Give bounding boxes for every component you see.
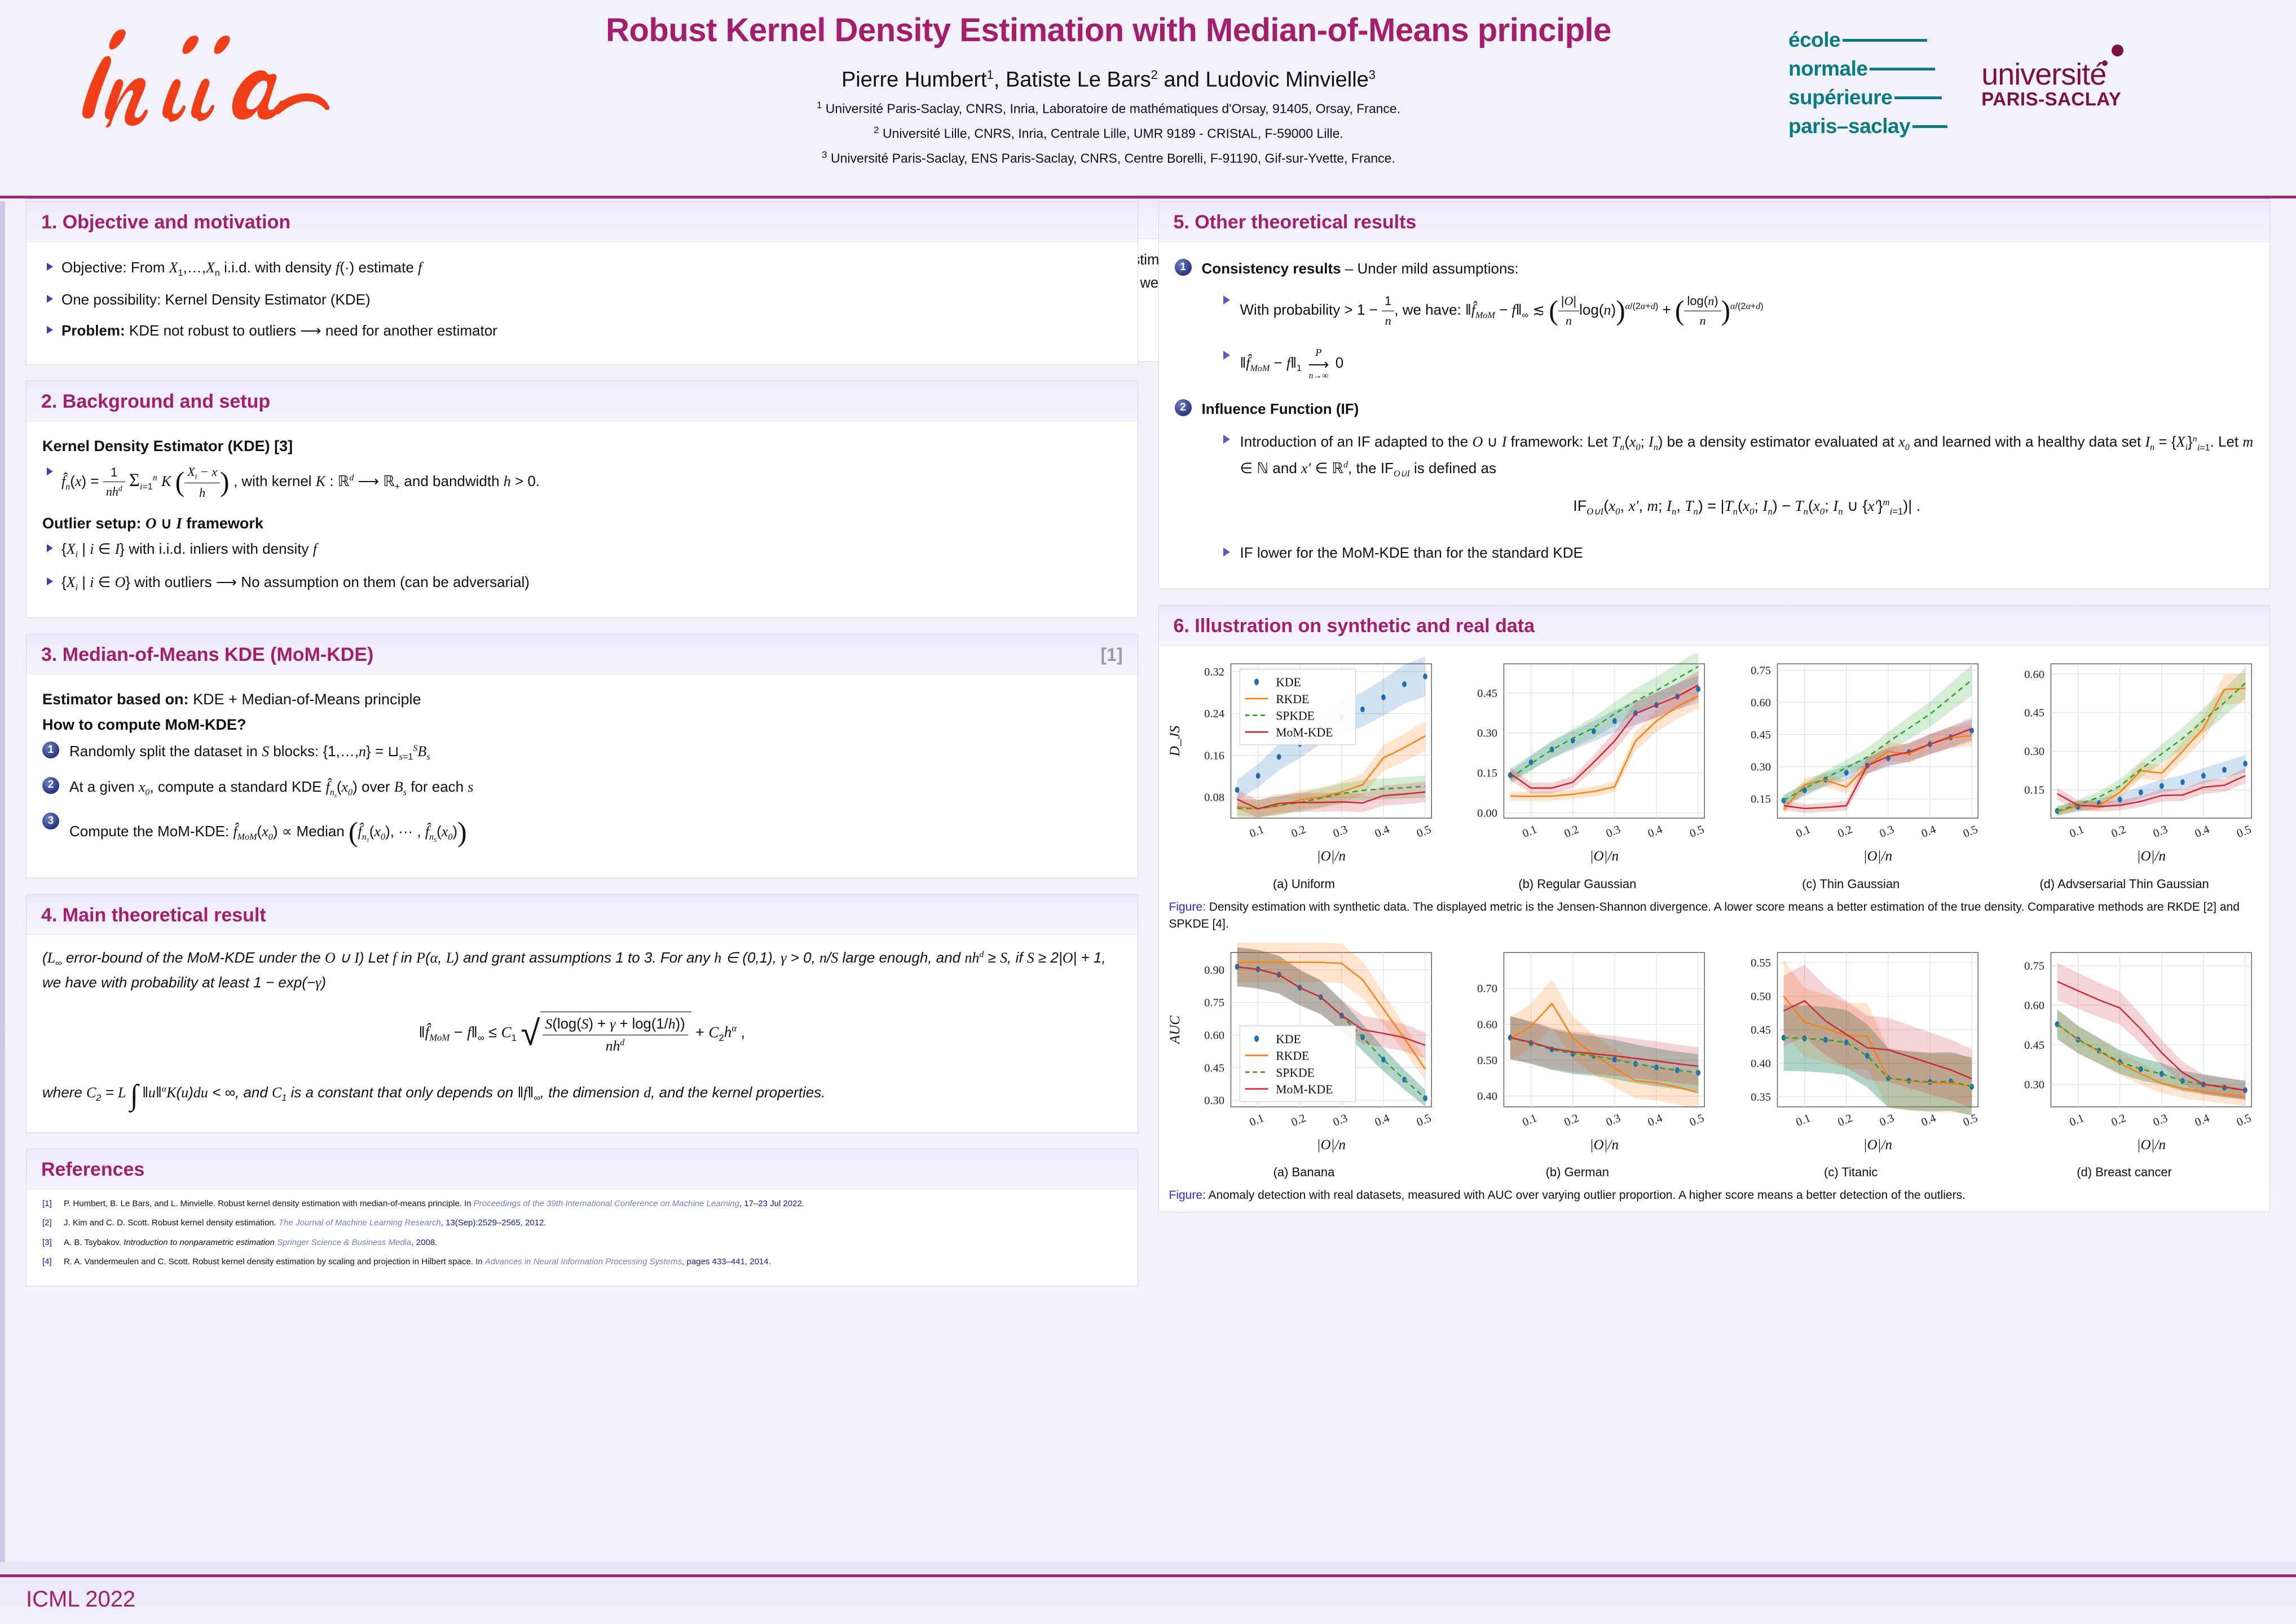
affiliation-2-text: Université Lille, CNRS, Inria, Centrale … <box>883 126 1343 141</box>
figure-1-label: Figure: <box>1169 901 1206 913</box>
plot-canvas: 0.10.20.30.40.50.150.300.450.600.75|O|/n <box>1716 654 1986 872</box>
list-item: Compute the MoM-KDE: f̂MoM(x0) ∝ Median … <box>42 811 1122 853</box>
figure-1-caption: Figure: Density estimation with syntheti… <box>1169 899 2260 933</box>
svg-text:0.1: 0.1 <box>1521 823 1539 840</box>
chart-svg: 0.10.20.30.40.50.400.500.600.70|O|/n <box>1442 942 1712 1154</box>
section-4-header: 4. Main theoretical result <box>27 895 1138 935</box>
kde-formula: f̂n(x) = 1nhd Σi=1n K (Xi − xh) , with k… <box>42 461 1122 503</box>
svg-text:0.2: 0.2 <box>1563 823 1581 840</box>
svg-text:0.30: 0.30 <box>2024 1078 2044 1091</box>
figure-2-caption: Figure: Anomaly detection with real data… <box>1169 1187 2260 1204</box>
reference-rest: , 2008. <box>411 1238 437 1247</box>
reference-title: Robust kernel density estimation with me… <box>218 1199 462 1208</box>
svg-text:0.30: 0.30 <box>1478 727 1498 740</box>
title-block: Robust Kernel Density Estimation with Me… <box>429 0 1788 166</box>
svg-text:0.5: 0.5 <box>1414 1111 1433 1128</box>
left-column: 1. Objective and motivation Objective: F… <box>26 201 1138 1302</box>
list-item: {Xi | i ∈ I} with i.i.d. inliers with de… <box>42 538 1122 562</box>
svg-text:0.00: 0.00 <box>1478 807 1498 820</box>
svg-text:AUC: AUC <box>1169 1015 1183 1044</box>
subcaption: (b) German <box>1442 1163 1712 1181</box>
ens-rule-3 <box>1894 96 1942 99</box>
chart-svg: 0.10.20.30.40.50.000.150.300.45|O|/n <box>1442 654 1712 866</box>
svg-text:0.15: 0.15 <box>1751 793 1771 806</box>
svg-text:0.24: 0.24 <box>1204 708 1224 721</box>
figure-2-caption-text: Anomaly detection with real datasets, me… <box>1209 1189 1966 1202</box>
svg-text:|O|/n: |O|/n <box>1316 849 1345 864</box>
references-title: References <box>41 1159 144 1181</box>
section-2-title: 2. Background and setup <box>41 391 270 413</box>
poster-header: Robust Kernel Density Estimation with Me… <box>0 0 2296 198</box>
reference-authors: A. B. Tsybakov. <box>64 1238 121 1247</box>
conference-name: ICML 2022 <box>26 1587 135 1612</box>
svg-text:0.70: 0.70 <box>1478 982 1498 995</box>
svg-text:D_JS: D_JS <box>1169 726 1183 757</box>
svg-text:0.75: 0.75 <box>1204 996 1224 1009</box>
references-body: [1] P. Humbert, B. Le Bars, and L. Minvi… <box>27 1189 1138 1286</box>
section-5-header: 5. Other theoretical results <box>1159 202 2270 242</box>
svg-text:0.2: 0.2 <box>2110 823 2128 840</box>
page-title: Robust Kernel Density Estimation with Me… <box>429 12 1788 48</box>
subcaption: (c) Thin Gaussian <box>1716 875 1986 893</box>
section-1-body: Objective: From X1,…,Xn i.i.d. with dens… <box>27 242 1138 364</box>
author-list: Pierre Humbert1, Batiste Le Bars2 and Lu… <box>429 68 1788 92</box>
svg-text:RKDE: RKDE <box>1276 1049 1309 1062</box>
reference-journal: The Journal of Machine Learning Research <box>279 1218 441 1228</box>
subcaption: (b) Regular Gaussian <box>1442 875 1712 893</box>
svg-text:0.45: 0.45 <box>2024 707 2044 720</box>
chart-svg: 0.10.20.30.40.50.300.450.600.750.90|O|/n… <box>1169 942 1439 1154</box>
list-item: ‖f̂MoM − f‖1 P ⟶ n→∞ 0 <box>1219 345 2254 382</box>
ens-rule-4 <box>1912 125 1947 128</box>
plot-canvas: 0.10.20.30.40.50.000.150.300.45|O|/n <box>1442 654 1712 872</box>
section-5-items: Consistency results – Under mild assumpt… <box>1175 258 2254 564</box>
svg-text:0.08: 0.08 <box>1204 792 1224 804</box>
reference-tag: [4] <box>42 1256 57 1268</box>
plot-breast-cancer: 0.10.20.30.40.50.300.450.600.75|O|/n(d) … <box>1989 942 2259 1181</box>
svg-text:0.16: 0.16 <box>1204 750 1224 762</box>
ens-line-3: supérieure <box>1788 86 1947 109</box>
plot-adversarial-thin-gaussian: 0.10.20.30.40.50.150.300.450.60|O|/n(d) … <box>1989 654 2259 893</box>
svg-text:0.45: 0.45 <box>1751 729 1771 742</box>
reference-rest: , 13(Sep):2529–2565, 2012. <box>441 1218 547 1228</box>
svg-text:0.45: 0.45 <box>2024 1039 2044 1051</box>
header-divider <box>0 196 2296 198</box>
if-equation: IFO∪I(x0, x′, m; In, Tn) = |Tn(x0; In) −… <box>1240 493 2254 520</box>
svg-text:|O|/n: |O|/n <box>2137 849 2166 864</box>
reference-item: [1] P. Humbert, B. Le Bars, and L. Minvi… <box>42 1198 1122 1210</box>
ens-line-4: paris–saclay <box>1788 114 1947 138</box>
estimator-text: KDE + Median-of-Means principle <box>193 691 421 708</box>
plot-regular-gaussian: 0.10.20.30.40.50.000.150.300.45|O|/n(b) … <box>1442 654 1712 893</box>
poster-footer: ICML 2022 <box>0 1562 2296 1624</box>
svg-text:0.40: 0.40 <box>1478 1090 1498 1102</box>
references-header: References <box>27 1149 1138 1189</box>
svg-text:0.55: 0.55 <box>1751 956 1771 969</box>
svg-text:0.4: 0.4 <box>1920 823 1938 840</box>
svg-text:0.45: 0.45 <box>1204 1062 1224 1074</box>
theorem-equation: ‖f̂MoM − f‖∞ ≤ C1 √ S(log(S) + γ + log(1… <box>42 1007 1122 1060</box>
subcaption: (a) Uniform <box>1169 875 1439 893</box>
svg-text:0.4: 0.4 <box>1920 1111 1938 1128</box>
svg-text:0.5: 0.5 <box>1688 823 1706 840</box>
list-item: {Xi | i ∈ O} with outliers ⟶ No assumpti… <box>42 571 1122 595</box>
reference-tag: [3] <box>42 1237 57 1248</box>
plot-canvas: 0.10.20.30.40.50.300.450.600.750.90|O|/n… <box>1169 942 1439 1160</box>
list-item: Consistency results – Under mild assumpt… <box>1175 258 2254 382</box>
svg-text:0.4: 0.4 <box>1373 1111 1391 1128</box>
outlier-setup-heading: Outlier setup: O ∪ I framework <box>42 512 1122 535</box>
svg-text:0.5: 0.5 <box>2235 823 2253 840</box>
svg-text:0.2: 0.2 <box>1289 823 1307 840</box>
svg-text:0.4: 0.4 <box>2193 1111 2211 1128</box>
problem-label: Problem: <box>61 322 125 339</box>
subcaption: (c) Titanic <box>1716 1163 1986 1181</box>
affiliation-1: 1 Université Paris-Saclay, CNRS, Inria, … <box>429 100 1788 117</box>
reference-title: Robust kernel density estimation. <box>152 1218 276 1228</box>
section-references: References [1] P. Humbert, B. Le Bars, a… <box>26 1149 1138 1286</box>
reference-tag: [2] <box>42 1217 57 1229</box>
reference-journal: Advances in Neural Information Processin… <box>485 1257 682 1266</box>
footer-divider <box>0 1574 2296 1577</box>
influence-function-label: Influence Function (IF) <box>1202 400 1359 417</box>
reference-item: [4] R. A. Vandermeulen and C. Scott. Rob… <box>42 1256 1122 1268</box>
svg-text:|O|/n: |O|/n <box>1590 849 1619 864</box>
how-to-compute-heading: How to compute MoM-KDE? <box>42 713 1122 736</box>
kde-heading: Kernel Density Estimator (KDE) [3] <box>42 435 1122 458</box>
svg-text:0.3: 0.3 <box>2152 823 2170 840</box>
ups-wordmark: université <box>1981 57 2121 92</box>
section-6-body: 0.10.20.30.40.50.080.160.240.32|O|/nD_JS… <box>1159 646 2270 1212</box>
section-objective: 1. Objective and motivation Objective: F… <box>26 201 1138 365</box>
svg-text:0.35: 0.35 <box>1751 1091 1771 1103</box>
svg-text:|O|/n: |O|/n <box>1863 849 1892 864</box>
ens-paris-saclay-logo: école normale supérieure paris–saclay <box>1788 28 1947 138</box>
plot-canvas: 0.10.20.30.40.50.080.160.240.32|O|/nD_JS… <box>1169 654 1439 872</box>
affiliation-2: 2 Université Lille, CNRS, Inria, Central… <box>429 125 1788 142</box>
svg-text:0.75: 0.75 <box>2024 960 2044 972</box>
figure-row-1: 0.10.20.30.40.50.080.160.240.32|O|/nD_JS… <box>1169 654 2260 893</box>
svg-text:0.90: 0.90 <box>1204 964 1224 976</box>
section-mom-kde: 3. Median-of-Means KDE (MoM-KDE) [1] Est… <box>26 634 1138 879</box>
plot-canvas: 0.10.20.30.40.50.150.300.450.60|O|/n <box>1989 654 2259 872</box>
svg-text:0.3: 0.3 <box>1605 823 1623 840</box>
svg-text:0.3: 0.3 <box>1878 823 1896 840</box>
svg-text:0.40: 0.40 <box>1751 1057 1771 1070</box>
section-1-header: 1. Objective and motivation <box>27 202 1138 242</box>
section-3-body: Estimator based on: KDE + Median-of-Mean… <box>27 674 1138 878</box>
consistency-rest: – Under mild assumptions: <box>1345 260 1519 277</box>
section-3-header: 3. Median-of-Means KDE (MoM-KDE) [1] <box>27 634 1138 674</box>
author-1: Pierre Humbert <box>841 68 987 91</box>
svg-text:0.15: 0.15 <box>1478 767 1498 780</box>
svg-text:KDE: KDE <box>1276 676 1301 690</box>
svg-text:RKDE: RKDE <box>1276 692 1309 706</box>
svg-text:MoM-KDE: MoM-KDE <box>1276 726 1333 739</box>
svg-text:0.1: 0.1 <box>1248 1111 1266 1128</box>
svg-text:0.15: 0.15 <box>2024 784 2044 797</box>
svg-text:|O|/n: |O|/n <box>1863 1137 1892 1153</box>
author-3: Ludovic Minvielle <box>1205 68 1368 91</box>
list-item: IF lower for the MoM-KDE than for the st… <box>1219 542 2254 564</box>
two-column-layout: 1. Objective and motivation Objective: F… <box>26 201 2270 1302</box>
svg-text:|O|/n: |O|/n <box>1316 1137 1345 1153</box>
section-6-header: 6. Illustration on synthetic and real da… <box>1159 606 2270 646</box>
svg-text:0.3: 0.3 <box>1331 1111 1349 1128</box>
ens-rule-1 <box>1843 39 1927 42</box>
svg-text:0.2: 0.2 <box>1836 1111 1854 1128</box>
svg-text:MoM-KDE: MoM-KDE <box>1276 1082 1333 1096</box>
svg-text:0.4: 0.4 <box>1646 823 1664 840</box>
author-2: Batiste Le Bars <box>1006 68 1151 91</box>
reference-authors: P. Humbert, B. Le Bars, and L. Minvielle… <box>64 1199 215 1208</box>
partner-logos: école normale supérieure paris–saclay un… <box>1788 0 2296 138</box>
theorem-statement-2: where C2 = L ∫ ‖u‖αK(u)du < ∞, and C1 is… <box>42 1072 1122 1119</box>
svg-text:0.3: 0.3 <box>2152 1111 2170 1128</box>
if-sublist: Introduction of an IF adapted to the O ∪… <box>1219 429 2254 564</box>
ens-rule-2 <box>1870 68 1935 70</box>
list-item: Randomly split the dataset in S blocks: … <box>42 740 1122 764</box>
subcaption: (d) Advsersarial Thin Gaussian <box>1989 875 2259 893</box>
ens-line-1: école <box>1788 28 1947 52</box>
svg-text:0.5: 0.5 <box>1414 823 1433 840</box>
svg-text:0.1: 0.1 <box>1795 1111 1813 1128</box>
reference-rest: , pages 433–441, 2014. <box>682 1257 771 1266</box>
svg-text:0.4: 0.4 <box>1373 823 1391 840</box>
svg-text:0.30: 0.30 <box>2024 746 2044 758</box>
plot-thin-gaussian: 0.10.20.30.40.50.150.300.450.600.75|O|/n… <box>1716 654 1986 893</box>
section-5-title: 5. Other theoretical results <box>1174 211 1417 233</box>
reference-venue: In <box>464 1199 474 1208</box>
section-main-result: 4. Main theoretical result (L∞ error-bou… <box>26 894 1138 1133</box>
affiliation-3: 3 Université Paris-Saclay, ENS Paris-Sac… <box>429 149 1788 166</box>
section-2-body: Kernel Density Estimator (KDE) [3] f̂n(x… <box>27 421 1138 617</box>
svg-text:0.2: 0.2 <box>1563 1111 1581 1128</box>
svg-text:0.1: 0.1 <box>2068 1111 2086 1128</box>
svg-text:0.5: 0.5 <box>1962 823 1980 840</box>
figure-row-2: 0.10.20.30.40.50.300.450.600.750.90|O|/n… <box>1169 942 2260 1181</box>
svg-text:0.50: 0.50 <box>1751 990 1771 1003</box>
chart-svg: 0.10.20.30.40.50.350.400.450.500.55|O|/n <box>1716 942 1986 1154</box>
svg-text:0.50: 0.50 <box>1478 1054 1498 1067</box>
subcaption: (d) Breast cancer <box>1989 1163 2259 1181</box>
svg-text:0.2: 0.2 <box>1289 1111 1307 1128</box>
subcaption: (a) Banana <box>1169 1163 1439 1181</box>
svg-text:0.5: 0.5 <box>1962 1111 1980 1128</box>
svg-text:0.1: 0.1 <box>1521 1111 1539 1128</box>
kde-formula-list: f̂n(x) = 1nhd Σi=1n K (Xi − xh) , with k… <box>42 461 1122 503</box>
poster-content: 1. Objective and motivation Objective: F… <box>0 201 2296 1562</box>
reference-journal: Proceedings of the 39th International Co… <box>474 1199 739 1208</box>
reference-journal: Springer Science & Business Media <box>277 1238 411 1247</box>
list-item: Influence Function (IF) Introduction of … <box>1175 398 2254 564</box>
inria-logo <box>0 0 429 135</box>
affiliation-1-text: Université Paris-Saclay, CNRS, Inria, La… <box>826 101 1400 116</box>
svg-text:0.3: 0.3 <box>1878 1111 1896 1128</box>
section-illustration: 6. Illustration on synthetic and real da… <box>1158 605 2271 1212</box>
section-background: 2. Background and setup Kernel Density E… <box>26 381 1138 618</box>
section-2-header: 2. Background and setup <box>27 381 1138 421</box>
chart-svg: 0.10.20.30.40.50.080.160.240.32|O|/nD_JS… <box>1169 654 1439 866</box>
reference-title: Introduction to nonparametric estimation <box>124 1238 275 1247</box>
svg-text:0.60: 0.60 <box>2024 669 2044 681</box>
reference-venue: In <box>475 1257 485 1266</box>
svg-text:SPKDE: SPKDE <box>1276 709 1315 723</box>
svg-text:0.5: 0.5 <box>1688 1111 1706 1128</box>
reference-rest: , 17–23 Jul 2022. <box>739 1199 804 1208</box>
right-column: 5. Other theoretical results Consistency… <box>1158 201 2271 1302</box>
svg-text:0.32: 0.32 <box>1204 666 1224 678</box>
plot-canvas: 0.10.20.30.40.50.350.400.450.500.55|O|/n <box>1716 942 1986 1160</box>
list-item: At a given x0, compute a standard KDE f̂… <box>42 776 1122 800</box>
chart-svg: 0.10.20.30.40.50.300.450.600.75|O|/n <box>1989 942 2259 1154</box>
svg-text:0.3: 0.3 <box>1331 823 1349 840</box>
svg-text:|O|/n: |O|/n <box>2137 1137 2166 1153</box>
svg-text:0.1: 0.1 <box>2068 823 2086 840</box>
ups-subtitle: PARIS-SACLAY <box>1981 89 2121 110</box>
chart-svg: 0.10.20.30.40.50.150.300.450.600.75|O|/n <box>1716 654 1986 866</box>
affiliation-3-text: Université Paris-Saclay, ENS Paris-Sacla… <box>831 151 1395 165</box>
ups-dot-large-icon <box>2112 45 2123 56</box>
reference-tag: [1] <box>42 1198 57 1210</box>
section-5-body: Consistency results – Under mild assumpt… <box>1159 242 2270 589</box>
plot-banana: 0.10.20.30.40.50.300.450.600.750.90|O|/n… <box>1169 942 1439 1181</box>
list-item: With probability > 1 − 1n, we have: ‖f̂M… <box>1219 290 2254 332</box>
svg-text:0.2: 0.2 <box>1836 823 1854 840</box>
section-2-bullets: {Xi | i ∈ I} with i.i.d. inliers with de… <box>42 538 1122 595</box>
estimator-label: Estimator based on: <box>42 691 189 708</box>
ups-dot-small-icon <box>2102 60 2108 66</box>
theorem-statement-1: (L∞ error-bound of the MoM-KDE under the… <box>42 946 1122 995</box>
svg-text:0.60: 0.60 <box>1478 1018 1498 1031</box>
reference-item: [3] A. B. Tsybakov. Introduction to nonp… <box>42 1237 1122 1248</box>
plot-titanic: 0.10.20.30.40.50.350.400.450.500.55|O|/n… <box>1716 942 1986 1181</box>
section-4-title: 4. Main theoretical result <box>41 904 266 926</box>
reference-title: Robust kernel density estimation by scal… <box>192 1257 473 1266</box>
consistency-label: Consistency results <box>1202 260 1341 277</box>
svg-text:0.45: 0.45 <box>1751 1023 1771 1036</box>
svg-text:0.60: 0.60 <box>2024 999 2044 1012</box>
svg-text:0.1: 0.1 <box>1795 823 1813 840</box>
svg-text:0.4: 0.4 <box>2193 823 2211 840</box>
list-item: Introduction of an IF adapted to the O ∪… <box>1219 429 2254 519</box>
plot-canvas: 0.10.20.30.40.50.300.450.600.75|O|/n <box>1989 942 2259 1160</box>
svg-text:0.30: 0.30 <box>1751 761 1771 774</box>
svg-text:0.3: 0.3 <box>1605 1111 1623 1128</box>
section-1-bullets: Objective: From X1,…,Xn i.i.d. with dens… <box>42 257 1122 342</box>
svg-text:0.60: 0.60 <box>1204 1029 1224 1042</box>
mom-kde-steps: Randomly split the dataset in S blocks: … <box>42 740 1122 853</box>
reference-authors: R. A. Vandermeulen and C. Scott. <box>64 1257 190 1266</box>
figure-2-label: Figure: <box>1169 1189 1206 1202</box>
estimator-based-on: Estimator based on: KDE + Median-of-Mean… <box>42 688 1122 711</box>
svg-text:0.4: 0.4 <box>1646 1111 1664 1128</box>
svg-text:0.75: 0.75 <box>1751 665 1771 677</box>
plot-german: 0.10.20.30.40.50.400.500.600.70|O|/n(b) … <box>1442 942 1712 1181</box>
reference-item: [2] J. Kim and C. D. Scott. Robust kerne… <box>42 1217 1122 1229</box>
plot-uniform: 0.10.20.30.40.50.080.160.240.32|O|/nD_JS… <box>1169 654 1439 893</box>
svg-text:0.45: 0.45 <box>1478 687 1498 700</box>
svg-text:KDE: KDE <box>1276 1032 1301 1046</box>
svg-text:0.60: 0.60 <box>1751 697 1771 709</box>
svg-text:0.5: 0.5 <box>2235 1111 2253 1128</box>
svg-text:0.2: 0.2 <box>2110 1111 2128 1128</box>
list-item: Problem: KDE not robust to outliers ⟶ ne… <box>42 320 1122 342</box>
list-item: Objective: From X1,…,Xn i.i.d. with dens… <box>42 257 1122 280</box>
section-6-title: 6. Illustration on synthetic and real da… <box>1174 615 1535 637</box>
figure-1-caption-text: Density estimation with synthetic data. … <box>1169 901 2240 930</box>
section-3-title: 3. Median-of-Means KDE (MoM-KDE) <box>41 644 373 666</box>
svg-text:SPKDE: SPKDE <box>1276 1066 1315 1079</box>
list-item: One possibility: Kernel Density Estimato… <box>42 289 1122 311</box>
ens-line-2: normale <box>1788 57 1947 81</box>
universite-paris-saclay-logo: université PARIS-SACLAY <box>1981 57 2121 110</box>
svg-text:0.1: 0.1 <box>1248 823 1266 840</box>
section-other-results: 5. Other theoretical results Consistency… <box>1158 201 2271 589</box>
chart-svg: 0.10.20.30.40.50.150.300.450.60|O|/n <box>1989 654 2259 866</box>
consistency-sublist: With probability > 1 − 1n, we have: ‖f̂M… <box>1219 290 2254 382</box>
section-4-body: (L∞ error-bound of the MoM-KDE under the… <box>27 935 1138 1132</box>
svg-text:0.30: 0.30 <box>1204 1095 1224 1107</box>
section-3-reference: [1] <box>1100 645 1122 665</box>
section-1-title: 1. Objective and motivation <box>41 211 290 233</box>
svg-text:|O|/n: |O|/n <box>1590 1137 1619 1153</box>
plot-canvas: 0.10.20.30.40.50.400.500.600.70|O|/n <box>1442 942 1712 1160</box>
reference-authors: J. Kim and C. D. Scott. <box>64 1218 149 1228</box>
